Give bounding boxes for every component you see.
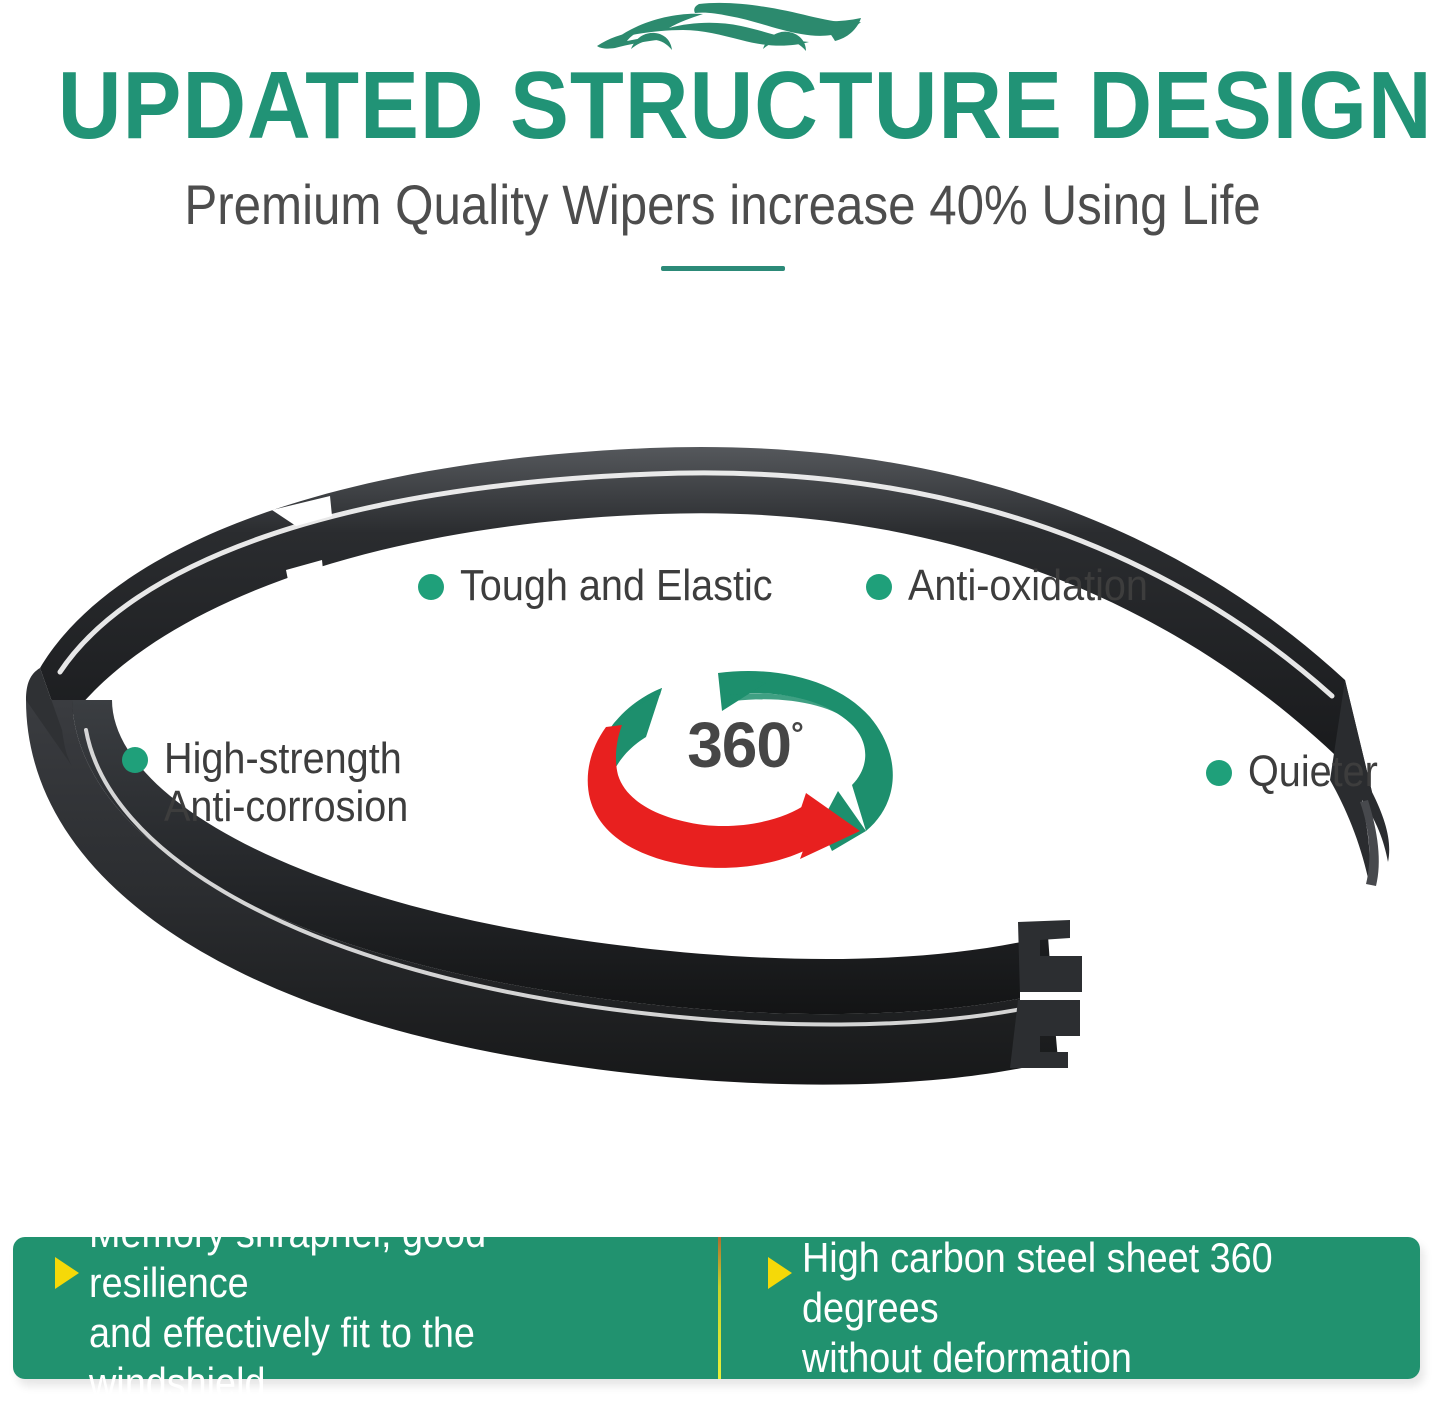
feature-callout-tough-and-elastic: Tough and Elastic [418,562,807,610]
banner-item-text: Memory shrapnel, good resilience and eff… [89,1208,655,1408]
feature-label: Quieter [1248,748,1378,796]
page-title: UPDATED STRUCTURE DESIGN [58,58,1387,154]
feature-label: Tough and Elastic [460,562,773,610]
badge-value: 360 [687,709,791,781]
feature-callout-anti-oxidation: Anti-oxidation [866,562,1175,610]
feature-label: High-strength Anti-corrosion [164,735,408,831]
title-divider [661,266,785,271]
banner-vertical-divider [718,1237,721,1379]
bullet-dot-icon [122,747,148,773]
play-triangle-icon [55,1257,79,1289]
page-subtitle: Premium Quality Wipers increase 40% Usin… [87,176,1359,234]
wiper-connector-lower [1010,1000,1080,1068]
car-silhouette-icon [595,2,865,58]
feature-callout-high-strength-anti-corrosion: High-strength Anti-corrosion [122,735,435,831]
wiper-connector-gap [1020,992,1082,1000]
banner-item-high-carbon-steel: High carbon steel sheet 360 degrees with… [718,1237,1420,1379]
badge-360-degrees: 360° [570,655,920,870]
bottom-feature-banner: Memory shrapnel, good resilience and eff… [13,1237,1420,1379]
wiper-connector-upper [1018,920,1082,996]
badge-360-label: 360° [570,713,920,777]
play-triangle-icon [768,1257,792,1289]
banner-item-text: High carbon steel sheet 360 degrees with… [802,1233,1358,1383]
bullet-dot-icon [418,574,444,600]
feature-label: Anti-oxidation [908,562,1148,610]
degree-symbol: ° [791,716,803,752]
infographic-page: UPDATED STRUCTURE DESIGN Premium Quality… [0,0,1445,1421]
banner-item-memory-shrapnel: Memory shrapnel, good resilience and eff… [13,1237,718,1379]
feature-callout-quieter: Quieter [1206,748,1392,796]
bullet-dot-icon [1206,760,1232,786]
bullet-dot-icon [866,574,892,600]
